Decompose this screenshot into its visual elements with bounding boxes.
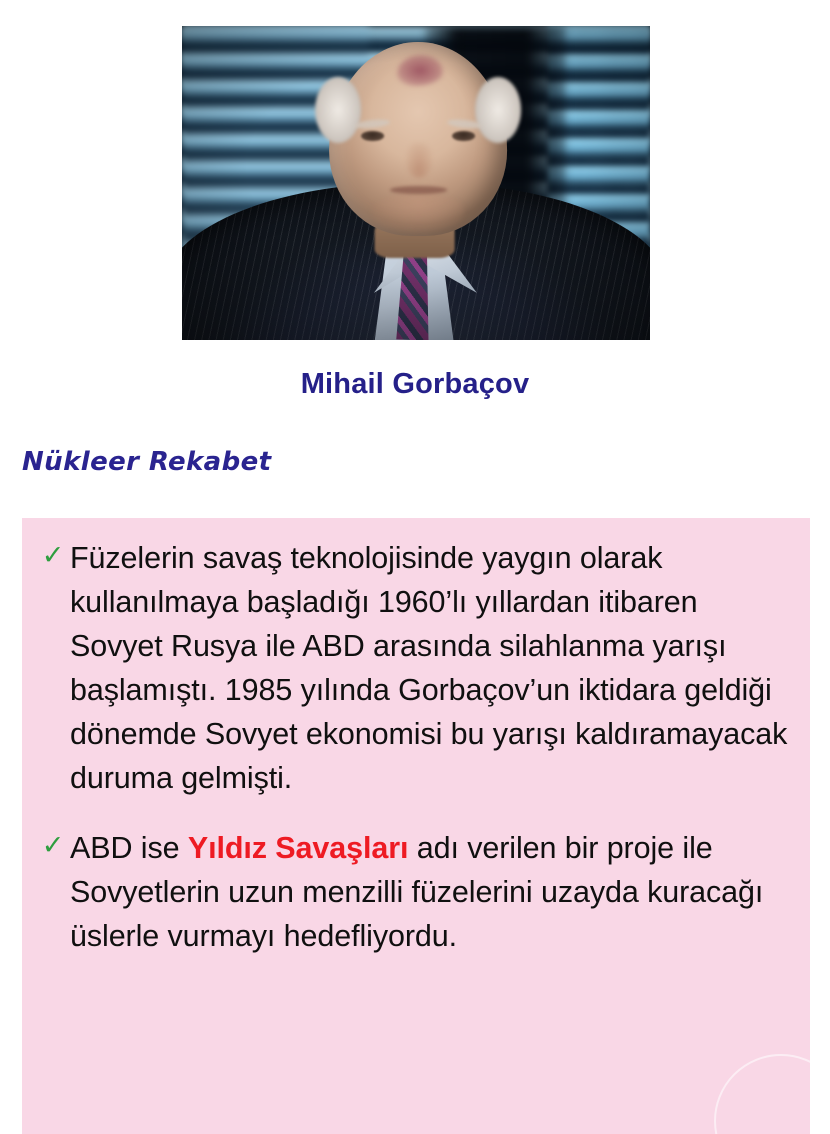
bullet-segment-text: ABD ise	[70, 831, 188, 865]
bullet-segment-text: Füzelerin savaş teknolojisinde yaygın ol…	[70, 541, 787, 795]
check-icon: ✓	[36, 542, 70, 569]
bullet-list: ✓ Füzelerin savaş teknolojisinde yaygın …	[22, 518, 810, 1134]
photo-vignette	[182, 26, 650, 340]
check-icon: ✓	[36, 832, 70, 859]
list-item: ✓ ABD ise Yıldız Savaşları adı verilen b…	[36, 826, 792, 958]
content-panel: ✓ Füzelerin savaş teknolojisinde yaygın …	[22, 518, 810, 1134]
gorbachev-portrait-photo	[182, 26, 650, 340]
photo-caption: Mihail Gorbaçov	[0, 368, 830, 401]
photo-canvas	[182, 26, 650, 340]
bullet-text: ABD ise Yıldız Savaşları adı verilen bir…	[70, 826, 792, 958]
section-heading: Nükleer Rekabet	[22, 447, 271, 477]
highlight-term: Yıldız Savaşları	[188, 831, 409, 865]
bullet-text: Füzelerin savaş teknolojisinde yaygın ol…	[70, 536, 792, 800]
list-item: ✓ Füzelerin savaş teknolojisinde yaygın …	[36, 536, 792, 800]
